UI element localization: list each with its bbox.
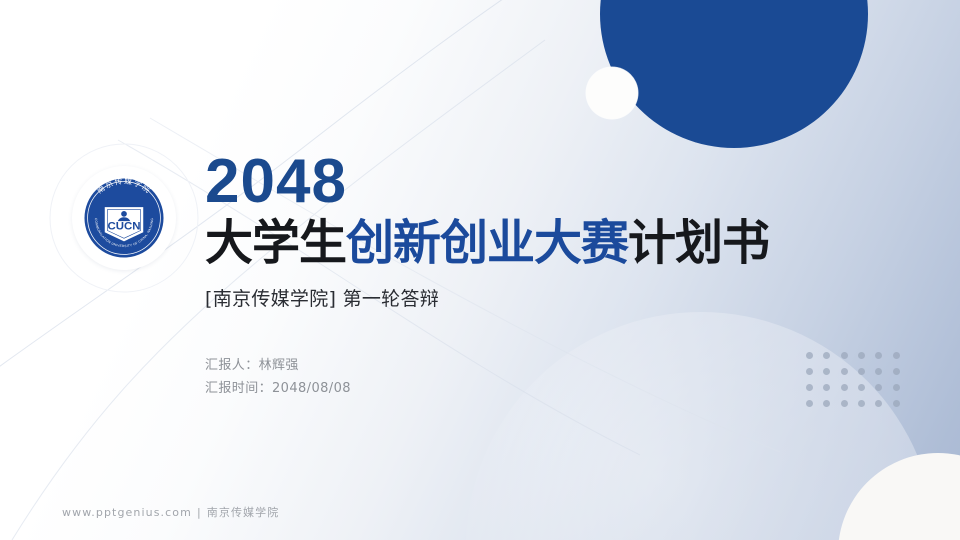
decorative-white-dot	[586, 67, 638, 119]
main-title: 大学生创新创业大赛计划书	[205, 217, 825, 270]
presentation-meta: 汇报人：林辉强 汇报时间：2048/08/08	[205, 355, 825, 401]
footer-separator: |	[197, 506, 202, 519]
university-emblem-icon: 南京传媒学院 COMMUNICATION UNIVERSITY OF CHINA…	[72, 166, 176, 270]
title-part-1: 大学生	[205, 215, 346, 271]
presenter-line: 汇报人：林辉强	[205, 355, 825, 378]
logo-acronym: CUCN	[107, 220, 140, 232]
university-logo: 南京传媒学院 COMMUNICATION UNIVERSITY OF CHINA…	[72, 166, 176, 270]
title-part-2: 创新创业大赛	[346, 215, 628, 271]
title-content-block: 2048 大学生创新创业大赛计划书 [南京传媒学院] 第一轮答辩 汇报人：林辉强…	[205, 150, 825, 401]
year-heading: 2048	[205, 150, 825, 213]
footer-site: www.pptgenius.com	[62, 506, 192, 519]
decorative-blue-circle	[600, 0, 868, 148]
date-line: 汇报时间：2048/08/08	[205, 378, 825, 401]
presentation-title-slide: 南京传媒学院 COMMUNICATION UNIVERSITY OF CHINA…	[0, 0, 960, 540]
title-part-3: 计划书	[628, 215, 769, 271]
decorative-white-circle-bottom-right	[838, 453, 960, 540]
footer: www.pptgenius.com|南京传媒学院	[62, 504, 279, 520]
subtitle: [南京传媒学院] 第一轮答辩	[205, 284, 825, 311]
footer-org: 南京传媒学院	[207, 506, 280, 519]
